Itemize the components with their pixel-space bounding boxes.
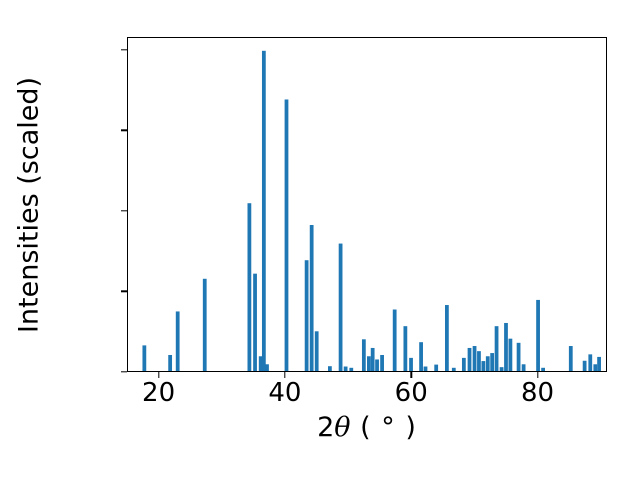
bar — [504, 323, 508, 371]
bar — [424, 367, 428, 371]
x-axis-label-theta: θ — [334, 412, 350, 443]
bar — [500, 367, 504, 371]
x-axis-label-prefix: 2 — [317, 412, 334, 443]
bar — [371, 348, 375, 371]
bar — [452, 368, 456, 371]
x-tick-mark — [158, 372, 159, 378]
bar — [375, 359, 379, 371]
bar — [468, 348, 472, 371]
bar — [434, 365, 438, 371]
bar — [339, 244, 343, 371]
bar — [477, 351, 481, 371]
bar — [473, 346, 477, 371]
bar — [597, 357, 601, 371]
bar — [142, 345, 146, 371]
bar — [522, 364, 526, 371]
x-tick-mark — [537, 372, 538, 378]
bar — [445, 305, 449, 371]
bar — [393, 310, 397, 371]
x-axis-label-unit: ( ° ) — [360, 412, 417, 443]
x-tick-mark — [284, 372, 285, 378]
bar — [495, 326, 499, 371]
bar — [541, 368, 545, 371]
bar — [419, 342, 423, 371]
bar — [305, 260, 309, 371]
bar — [517, 343, 521, 371]
bar — [509, 339, 513, 371]
x-tick-label: 20 — [119, 380, 199, 406]
bar — [203, 279, 207, 371]
x-tick-label: 80 — [498, 380, 578, 406]
bar — [380, 355, 384, 371]
x-tick-mark — [411, 372, 412, 378]
bar — [486, 356, 490, 371]
bar — [248, 203, 252, 371]
xrd-pattern-figure: Intensities (scaled) 0255075100 20406080… — [0, 0, 640, 480]
bar — [588, 354, 592, 371]
bar — [536, 300, 540, 371]
bar — [409, 358, 413, 371]
bar — [176, 311, 180, 371]
bar — [367, 356, 371, 371]
bar — [262, 51, 266, 371]
bar — [403, 326, 407, 371]
x-tick-label: 40 — [245, 380, 325, 406]
bar — [462, 358, 466, 371]
bar — [362, 339, 366, 371]
bar — [583, 361, 587, 371]
bar — [253, 274, 257, 371]
bar — [310, 225, 314, 371]
bar — [344, 367, 348, 371]
bar — [349, 368, 353, 371]
bar — [328, 366, 332, 371]
bar — [481, 361, 485, 371]
x-axis-label: 2θ ( ° ) — [127, 414, 607, 441]
bar — [265, 364, 269, 371]
bar — [315, 331, 319, 371]
bar — [569, 346, 573, 371]
x-tick-label: 60 — [371, 380, 451, 406]
bar — [285, 99, 289, 371]
bar — [168, 355, 172, 371]
plot-area — [127, 37, 607, 372]
y-axis-label: Intensities (scaled) — [12, 37, 46, 372]
bar-series — [128, 38, 606, 371]
y-axis-label-text: Intensities (scaled) — [16, 76, 43, 332]
bar — [490, 353, 494, 371]
bar — [593, 364, 597, 371]
